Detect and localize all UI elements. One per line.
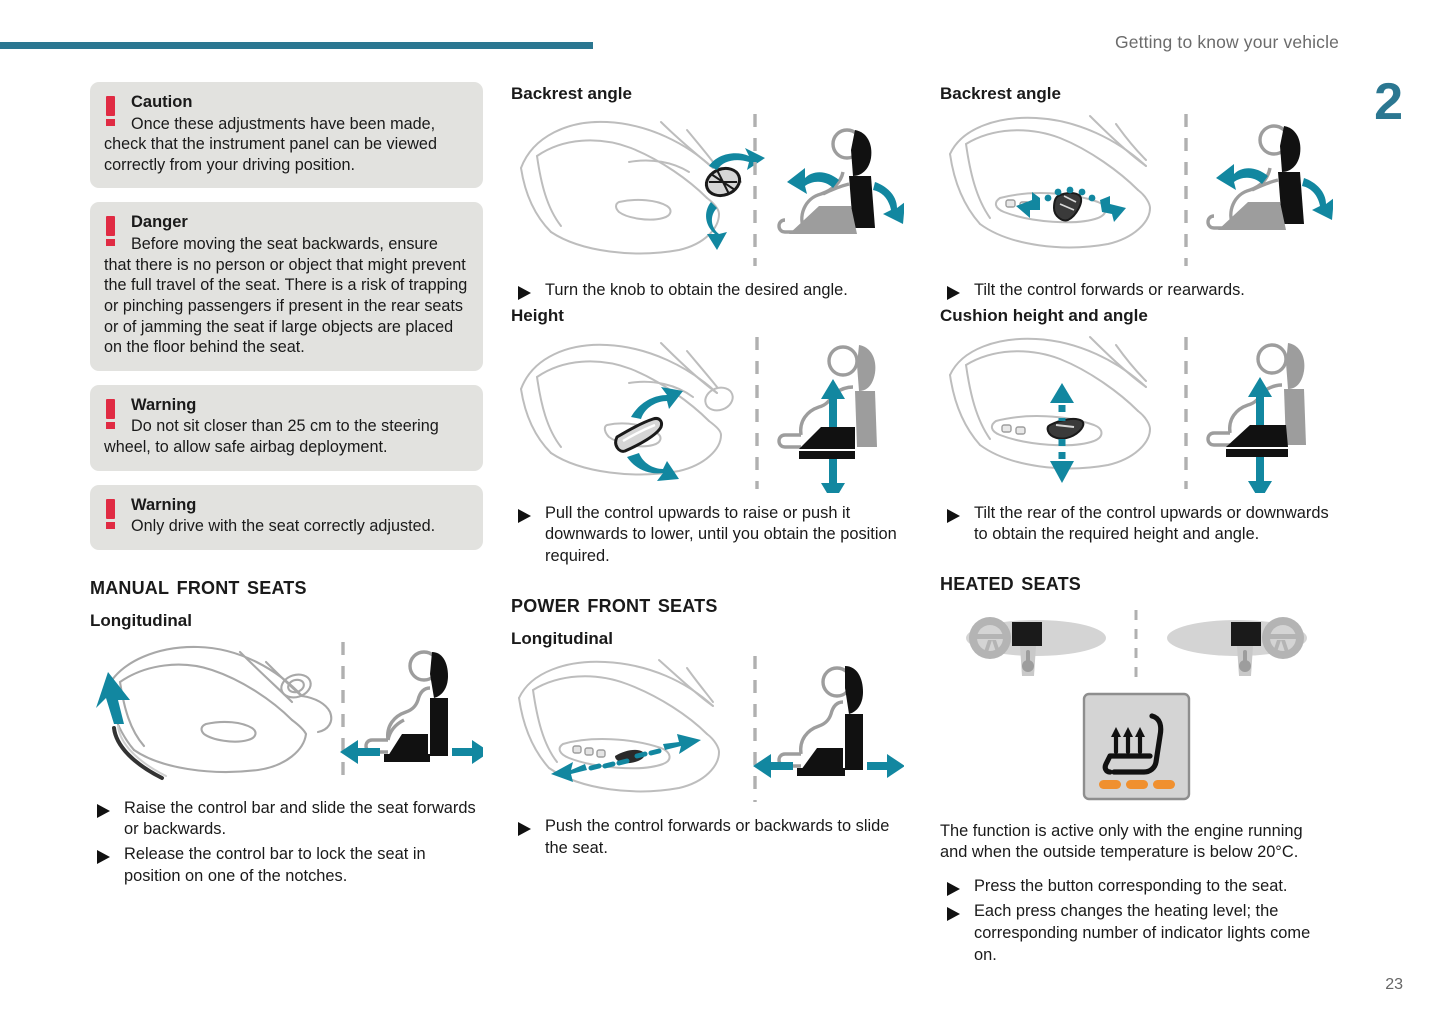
section-heading-heated-seats: Heated Seats (940, 568, 1333, 595)
bullet-item: Turn the knob to obtain the desired angl… (511, 280, 904, 302)
callout-body: Once these adjustments have been made, c… (104, 114, 469, 176)
callout-title: Danger (131, 213, 469, 233)
bullet-item: Release the control bar to lock the seat… (90, 844, 483, 888)
exclamation-icon (106, 216, 115, 246)
exclamation-icon (106, 96, 115, 126)
indicator-light (1153, 780, 1175, 789)
callout-first-line: Once these adjustments have been made, (131, 115, 435, 133)
bullet-item: Push the control forwards or backwards t… (511, 816, 904, 860)
subheading-power-longitudinal: Longitudinal (511, 629, 904, 649)
page-number: 23 (1385, 976, 1403, 994)
bullets-cushion-height: Tilt the rear of the control upwards or … (940, 503, 1333, 547)
callout-title: Caution (131, 93, 469, 113)
column-left: Caution Once these adjustments have been… (90, 82, 483, 892)
bullet-item: Tilt the rear of the control upwards or … (940, 503, 1333, 547)
subheading-backrest-angle: Backrest angle (511, 84, 904, 104)
manual-page: Getting to know your vehicle 2 23 Cautio… (0, 0, 1445, 1018)
subheading-longitudinal: Longitudinal (90, 611, 483, 631)
bullets-power-longitudinal: Push the control forwards or backwards t… (511, 816, 904, 860)
power-cushion-height-figure (940, 333, 1333, 493)
exclamation-icon (106, 499, 115, 529)
manual-seat-longitudinal-figure (90, 638, 483, 788)
chapter-number: 2 (1374, 76, 1403, 128)
callout-first-line: Do not sit closer than 25 cm to (131, 417, 350, 435)
callout-warning-airbag: Warning Do not sit closer than 25 cm to … (90, 385, 483, 471)
callout-rest: check that the instrument panel can be v… (104, 135, 437, 174)
column-middle: Backrest angle (511, 82, 904, 863)
callout-title: Warning (131, 396, 469, 416)
power-backrest-angle-figure (940, 110, 1333, 270)
section-heading-manual-front-seats: Manual Front Seats (90, 572, 483, 599)
bullets-manual-longitudinal: Raise the control bar and slide the seat… (90, 798, 483, 888)
header-title: Getting to know your vehicle (1115, 32, 1339, 53)
bullets-manual-height: Pull the control upwards to raise or pus… (511, 503, 904, 568)
callout-body: Only drive with the seat correctly adjus… (104, 516, 469, 537)
subheading-power-backrest-angle: Backrest angle (940, 84, 1333, 104)
heated-seats-dashboard-figure (940, 608, 1333, 813)
column-right: Backrest angle (940, 82, 1333, 970)
callout-caution: Caution Once these adjustments have been… (90, 82, 483, 188)
callout-body: Do not sit closer than 25 cm to the stee… (104, 416, 469, 457)
indicator-light (1099, 780, 1121, 789)
header-accent-rule (0, 42, 593, 49)
callout-rest: that there is no person or object that m… (104, 256, 467, 356)
bullet-item: Tilt the control forwards or rearwards. (940, 280, 1333, 302)
exclamation-icon (106, 399, 115, 429)
indicator-light (1126, 780, 1148, 789)
subheading-height: Height (511, 306, 904, 326)
callout-danger: Danger Before moving the seat backwards,… (90, 202, 483, 370)
heated-seats-paragraph: The function is active only with the eng… (940, 821, 1333, 865)
callout-first-line: Only drive with the seat correctly adjus… (131, 517, 435, 535)
section-heading-power-front-seats: Power Front Seats (511, 590, 904, 617)
bullet-item: Each press changes the heating level; th… (940, 901, 1333, 966)
manual-seat-height-figure (511, 333, 904, 493)
callout-first-line: Before moving the seat backwards, ensure (131, 235, 438, 253)
callout-title: Warning (131, 496, 469, 516)
bullet-item: Press the button corresponding to the se… (940, 876, 1333, 898)
power-seat-longitudinal-figure (511, 656, 904, 806)
bullets-heated-seats: Press the button corresponding to the se… (940, 876, 1333, 966)
manual-backrest-angle-figure (511, 110, 904, 270)
callout-body: Before moving the seat backwards, ensure… (104, 234, 469, 357)
bullets-power-backrest: Tilt the control forwards or rearwards. (940, 280, 1333, 302)
callout-warning-adjust: Warning Only drive with the seat correct… (90, 485, 483, 550)
bullets-manual-backrest: Turn the knob to obtain the desired angl… (511, 280, 904, 302)
bullet-item: Pull the control upwards to raise or pus… (511, 503, 904, 568)
subheading-cushion-height-and-angle: Cushion height and angle (940, 306, 1333, 326)
bullet-item: Raise the control bar and slide the seat… (90, 798, 483, 842)
